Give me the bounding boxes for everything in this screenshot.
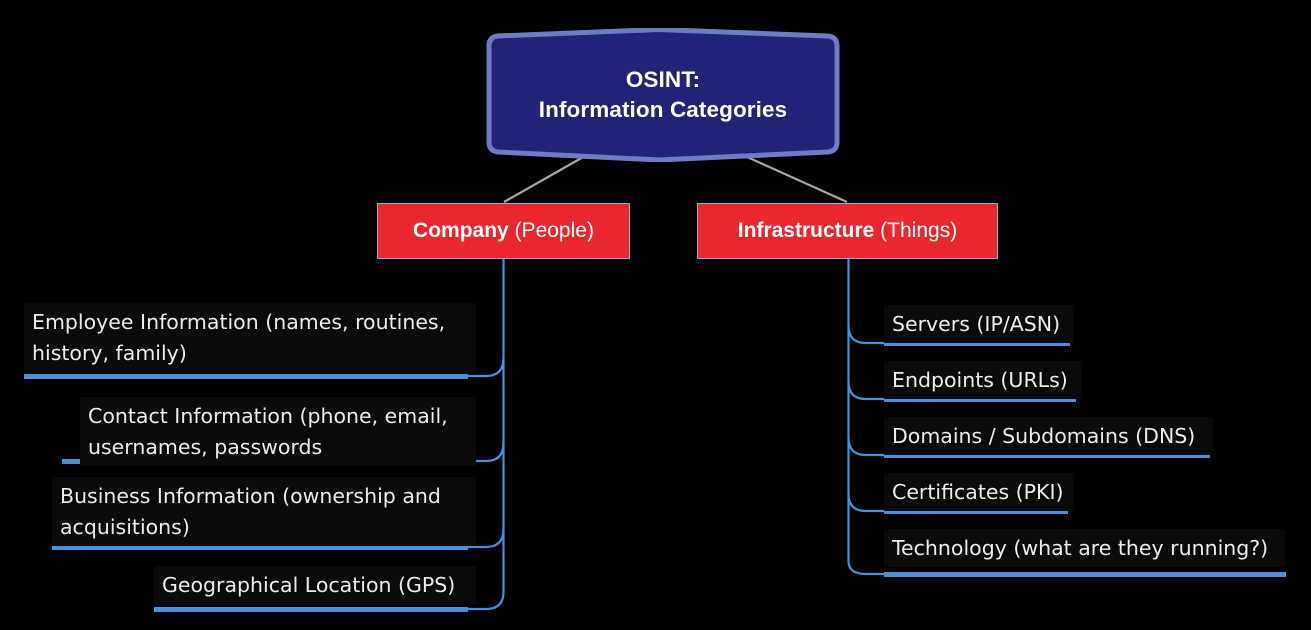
branch-right-1 bbox=[849, 382, 887, 399]
branch-right-3 bbox=[849, 494, 887, 511]
leaf-item-geographical-location[interactable]: Geographical Location (GPS) bbox=[154, 566, 476, 604]
category-company-plain-label: (People) bbox=[515, 219, 594, 243]
leaf-item-business-information[interactable]: Business Information (ownership and acqu… bbox=[52, 477, 476, 546]
root-label: OSINT: Information Categories bbox=[481, 28, 845, 162]
leaf-item-endpoints[interactable]: Endpoints (URLs) bbox=[884, 361, 1082, 399]
category-box-infrastructure[interactable]: Infrastructure (Things) bbox=[697, 203, 998, 259]
branch-right-2 bbox=[849, 438, 887, 455]
branch-right-0 bbox=[849, 326, 887, 343]
root-title-line-1: OSINT: bbox=[626, 65, 700, 95]
leaf-item-domains-subdomains[interactable]: Domains / Subdomains (DNS) bbox=[884, 417, 1213, 455]
root-node[interactable]: OSINT: Information Categories bbox=[481, 28, 845, 162]
category-box-company[interactable]: Company (People) bbox=[377, 203, 630, 259]
branch-right-4 bbox=[849, 561, 887, 574]
leaf-item-certificates[interactable]: Certificates (PKI) bbox=[884, 473, 1074, 511]
root-title-line-2: Information Categories bbox=[539, 95, 787, 125]
mindmap-canvas: OSINT: Information Categories Company (P… bbox=[0, 0, 1311, 630]
category-infrastructure-bold-label: Infrastructure bbox=[738, 219, 875, 243]
leaf-item-contact-information[interactable]: Contact Information (phone, email, usern… bbox=[80, 397, 476, 466]
leaf-item-employee-information[interactable]: Employee Information (names, routines, h… bbox=[24, 303, 476, 372]
category-infrastructure-plain-label: (Things) bbox=[880, 219, 957, 243]
category-company-bold-label: Company bbox=[413, 219, 509, 243]
leaf-item-servers[interactable]: Servers (IP/ASN) bbox=[884, 305, 1074, 343]
leaf-item-technology[interactable]: Technology (what are they running?) bbox=[884, 529, 1285, 567]
